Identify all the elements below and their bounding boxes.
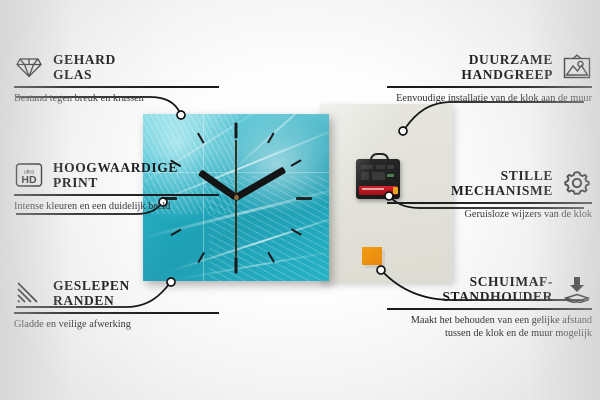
- divider: [14, 312, 219, 314]
- feature-title: SCHUIMAF-STANDHOUDER: [442, 274, 553, 304]
- hd-label: HD: [21, 174, 37, 186]
- feature-header: DUURZAMEHANDGREEP: [387, 52, 592, 82]
- feature-header: GESLEPENRANDEN: [14, 278, 219, 308]
- clock-tick: [235, 123, 238, 139]
- feature-header: GEHARDGLAS: [14, 52, 219, 82]
- feature-schuimaf-standhouder: SCHUIMAF-STANDHOUDER Maakt het behouden …: [387, 274, 592, 341]
- feature-geslepen-randen: GESLEPENRANDEN Gladde en veilige afwerki…: [14, 278, 219, 331]
- foam-spacer-pad: [362, 247, 382, 265]
- feature-description: Bestand tegen breuk en krassen: [14, 92, 219, 106]
- ultra-hd-icon: ultra HD: [14, 160, 44, 190]
- feature-title: DUURZAMEHANDGREEP: [461, 52, 553, 82]
- bevelled-edge-icon: [14, 278, 44, 308]
- divider: [387, 86, 592, 88]
- feature-description: Geruisloze wijzers van de klok: [387, 208, 592, 222]
- feature-gehard-glas: GEHARDGLAS Bestand tegen breuk en krasse…: [14, 52, 219, 105]
- feature-description: Eenvoudige installatie van de klok aan d…: [387, 92, 592, 106]
- divider: [387, 308, 592, 310]
- divider: [14, 194, 219, 196]
- feature-title: GEHARDGLAS: [53, 52, 116, 82]
- press-down-icon: [562, 274, 592, 304]
- infographic-canvas: GEHARDGLAS Bestand tegen breuk en krasse…: [0, 0, 600, 400]
- mechanism-detail: [376, 165, 385, 169]
- feature-title: GESLEPENRANDEN: [53, 278, 130, 308]
- hanging-hook-icon: [370, 153, 389, 164]
- feature-title: HOOGWAARDIGEPRINT: [53, 160, 178, 190]
- feature-title: STILLEMECHANISME: [451, 168, 553, 198]
- clock-tick: [235, 258, 238, 274]
- feature-header: SCHUIMAF-STANDHOUDER: [387, 274, 592, 304]
- clock-center-cap: [234, 195, 239, 200]
- diamond-icon: [14, 52, 44, 82]
- battery-label: [362, 188, 384, 190]
- feature-description: Intense kleuren en een duidelijk beeld: [14, 200, 219, 214]
- feature-description: Gladde en veilige afwerking: [14, 318, 219, 332]
- clock-tick: [296, 197, 312, 200]
- feature-hoogwaardige-print: ultra HD HOOGWAARDIGEPRINT Intense kleur…: [14, 160, 219, 213]
- mechanism-detail: [372, 172, 385, 180]
- feature-header: STILLEMECHANISME: [387, 168, 592, 198]
- feature-description: Maakt het behouden van een gelijke afsta…: [387, 314, 592, 341]
- feature-duurzame-handgreep: DUURZAMEHANDGREEP Eenvoudige installatie…: [387, 52, 592, 105]
- divider: [387, 202, 592, 204]
- mechanism-detail: [361, 165, 373, 169]
- picture-frame-icon: [562, 52, 592, 82]
- feature-stille-mechanisme: STILLEMECHANISME Geruisloze wijzers van …: [387, 168, 592, 221]
- feature-header: ultra HD HOOGWAARDIGEPRINT: [14, 160, 219, 190]
- gear-icon: [562, 168, 592, 198]
- divider: [14, 86, 219, 88]
- mechanism-detail: [361, 172, 369, 180]
